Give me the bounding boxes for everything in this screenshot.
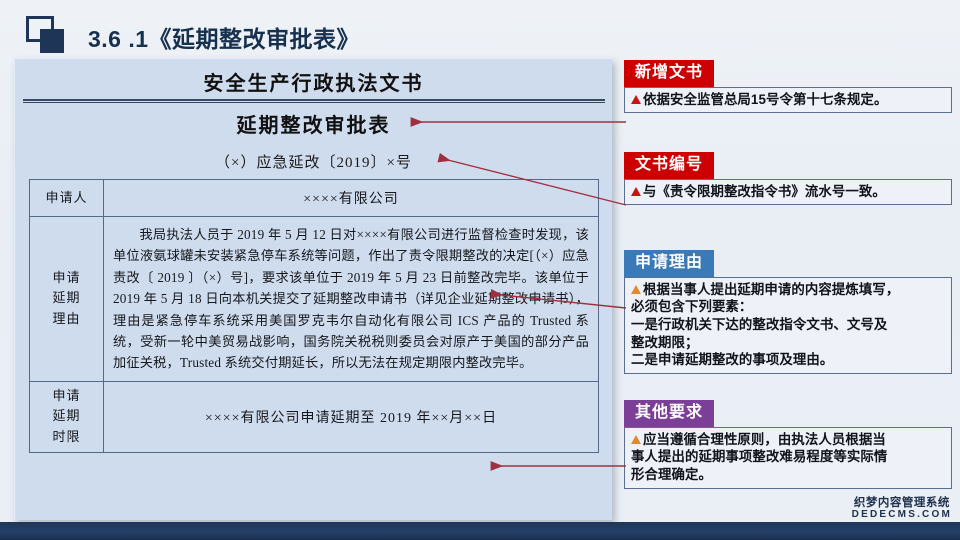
annotation-badge: 其他要求 <box>624 400 714 427</box>
document-heading-secondary: 延期整改审批表 <box>15 109 612 138</box>
document-heading-primary: 安全生产行政执法文书 <box>15 67 612 96</box>
document-inner: 安全生产行政执法文书 延期整改审批表 （×）应急延改〔2019〕×号 申请人 ×… <box>15 59 612 520</box>
annotation-line: 整改期限； <box>631 334 945 352</box>
row-label-deadline: 申请 延期 时限 <box>30 381 104 452</box>
label-line: 申请 <box>32 386 101 407</box>
slide-canvas: 3.6 .1《延期整改审批表》 安全生产行政执法文书 延期整改审批表 （×）应急… <box>0 0 960 540</box>
approval-form-table: 申请人 ××××有限公司 申请 延期 理由 我局执法人员于 2019 年 5 月… <box>29 179 599 453</box>
table-row: 申请人 ××××有限公司 <box>30 180 599 217</box>
annotation-line: 应当遵循合理性原则，由执法人员根据当 <box>631 431 945 449</box>
bottom-bar <box>0 522 960 540</box>
document-card: 安全生产行政执法文书 延期整改审批表 （×）应急延改〔2019〕×号 申请人 ×… <box>14 58 612 520</box>
label-line: 时限 <box>32 427 101 448</box>
annotation-line: 事人提出的延期事项整改难易程度等实际情 <box>631 448 945 466</box>
table-row: 申请 延期 理由 我局执法人员于 2019 年 5 月 12 日对××××有限公… <box>30 217 599 382</box>
annotation-body: 应当遵循合理性原则，由执法人员根据当 事人提出的延期事项整改难易程度等实际情 形… <box>624 427 952 489</box>
annotation-line: 一是行政机关下达的整改指令文书、文号及 <box>631 316 945 334</box>
row-value-reason: 我局执法人员于 2019 年 5 月 12 日对××××有限公司进行监督检查时发… <box>104 217 599 382</box>
document-number: （×）应急延改〔2019〕×号 <box>15 151 612 172</box>
slide-title-row: 3.6 .1《延期整改审批表》 <box>0 6 960 52</box>
annotation-text: 与《责令限期整改指令书》流水号一致。 <box>643 184 886 199</box>
reason-paragraph: 我局执法人员于 2019 年 5 月 12 日对××××有限公司进行监督检查时发… <box>113 224 589 374</box>
annotation-text: 依据安全监管总局15号令第十七条规定。 <box>643 92 887 107</box>
row-label-reason: 申请 延期 理由 <box>30 217 104 382</box>
annotation-badge: 新增文书 <box>624 60 714 87</box>
triangle-orange-icon <box>631 285 641 294</box>
watermark: 织梦内容管理系统 DEDECMS.COM <box>852 497 952 520</box>
label-line: 延期 <box>32 288 101 309</box>
annotation-line: 根据当事人提出延期申请的内容提炼填写， <box>631 281 945 299</box>
annotation-body: 与《责令限期整改指令书》流水号一致。 <box>624 179 952 206</box>
triangle-red-icon <box>631 187 641 196</box>
row-label-applicant: 申请人 <box>30 180 104 217</box>
annotation-line: 形合理确定。 <box>631 466 945 484</box>
annotation-badge: 文书编号 <box>624 152 714 179</box>
document-divider <box>23 99 605 103</box>
watermark-en: DEDECMS.COM <box>852 510 952 521</box>
annotation-document-number: 文书编号 与《责令限期整改指令书》流水号一致。 <box>624 152 952 205</box>
label-line: 理由 <box>32 309 101 330</box>
annotation-line: 与《责令限期整改指令书》流水号一致。 <box>631 183 945 201</box>
annotation-badge: 申请理由 <box>624 250 714 277</box>
annotation-text: 应当遵循合理性原则，由执法人员根据当 <box>643 432 886 447</box>
label-line: 延期 <box>32 406 101 427</box>
annotation-body: 依据安全监管总局15号令第十七条规定。 <box>624 87 952 114</box>
table-row: 申请 延期 时限 ××××有限公司申请延期至 2019 年××月××日 <box>30 381 599 452</box>
annotation-line: 二是申请延期整改的事项及理由。 <box>631 351 945 369</box>
annotation-body: 根据当事人提出延期申请的内容提炼填写， 必须包含下列要素： 一是行政机关下达的整… <box>624 277 952 374</box>
annotation-application-reason: 申请理由 根据当事人提出延期申请的内容提炼填写， 必须包含下列要素： 一是行政机… <box>624 250 952 374</box>
square-filled-shape <box>40 29 64 53</box>
page-title: 3.6 .1《延期整改审批表》 <box>88 20 360 54</box>
double-square-icon <box>26 16 70 54</box>
annotation-line: 必须包含下列要素： <box>631 298 945 316</box>
triangle-red-icon <box>631 95 641 104</box>
annotation-line: 依据安全监管总局15号令第十七条规定。 <box>631 91 945 109</box>
triangle-orange-icon <box>631 435 641 444</box>
row-value-applicant: ××××有限公司 <box>104 180 599 217</box>
annotation-new-document: 新增文书 依据安全监管总局15号令第十七条规定。 <box>624 60 952 113</box>
annotation-other-requirements: 其他要求 应当遵循合理性原则，由执法人员根据当 事人提出的延期事项整改难易程度等… <box>624 400 952 489</box>
row-value-deadline: ××××有限公司申请延期至 2019 年××月××日 <box>104 381 599 452</box>
watermark-cn: 织梦内容管理系统 <box>852 497 952 509</box>
annotation-text: 根据当事人提出延期申请的内容提炼填写， <box>643 282 899 297</box>
label-line: 申请 <box>32 268 101 289</box>
